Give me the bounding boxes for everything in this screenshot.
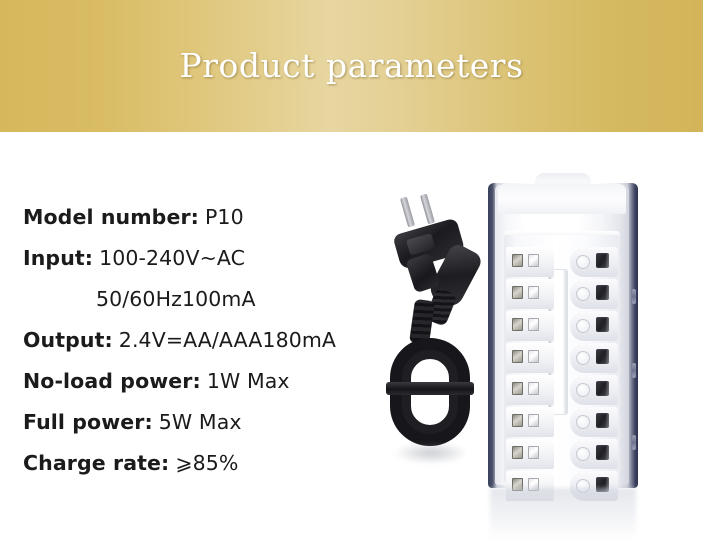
spring-contact-icon: [576, 287, 590, 301]
battery-slot: [570, 375, 618, 405]
battery-slot: [570, 247, 618, 277]
terminal-icon: [596, 445, 609, 460]
spring-contact-icon: [576, 255, 590, 269]
spec-label: Output:: [23, 328, 113, 352]
charger-side-notch: [632, 289, 636, 304]
terminal-icon: [596, 285, 609, 300]
spec-value: 5W Max: [159, 410, 242, 434]
cable-tie-strap: [386, 382, 474, 395]
plug-prong-icon: [400, 197, 415, 228]
charger-side-notch: [632, 435, 636, 450]
slot-contact-icon: [528, 446, 539, 459]
battery-slot: [570, 439, 618, 469]
slot-contact-icon: [528, 318, 539, 331]
spring-contact-icon: [576, 351, 590, 365]
plug-prong-icon: [420, 194, 435, 225]
spec-value: 1W Max: [207, 369, 290, 393]
power-cord-image: [378, 150, 528, 490]
terminal-icon: [596, 317, 609, 332]
battery-slot: [570, 311, 618, 341]
spec-label: No-load power:: [23, 369, 201, 393]
spec-label: Full power:: [23, 410, 153, 434]
terminal-icon: [596, 413, 609, 428]
spec-row-continuation: 50/60Hz100mA: [23, 278, 403, 319]
spec-value: ⩾85%: [175, 451, 238, 475]
spec-value: 100-240V~AC: [99, 246, 245, 270]
spring-contact-icon: [576, 415, 590, 429]
spec-value: 50/60Hz100mA: [96, 287, 256, 311]
spec-label: Charge rate:: [23, 451, 169, 475]
page-title: Product parameters: [179, 49, 523, 82]
slot-contact-icon: [528, 414, 539, 427]
header-banner: Product parameters: [0, 0, 703, 132]
product-photo: [378, 150, 703, 551]
spec-row: Charge rate: ⩾85%: [23, 442, 403, 483]
product-parameters-list: Model number: P10 Input: 100-240V~AC 50/…: [23, 196, 403, 483]
spec-value: 2.4V=AA/AAA180mA: [119, 328, 336, 352]
slot-contact-icon: [528, 286, 539, 299]
slot-contact-icon: [528, 254, 539, 267]
spring-contact-icon: [576, 383, 590, 397]
spec-label: Model number:: [23, 205, 199, 229]
slot-contact-icon: [528, 350, 539, 363]
charger-reflection: [490, 488, 636, 550]
spec-value: P10: [205, 205, 244, 229]
slot-contact-icon: [528, 382, 539, 395]
plug-face-detail: [406, 233, 435, 256]
terminal-icon: [596, 253, 609, 268]
battery-slot-column-right: [570, 247, 618, 503]
spec-row: Model number: P10: [23, 196, 403, 237]
spring-contact-icon: [576, 319, 590, 333]
terminal-icon: [596, 349, 609, 364]
spec-row: No-load power: 1W Max: [23, 360, 403, 401]
spec-row: Input: 100-240V~AC: [23, 237, 403, 278]
spec-label: Input:: [23, 246, 93, 270]
battery-slot: [570, 407, 618, 437]
spec-row: Full power: 5W Max: [23, 401, 403, 442]
charger-side-notch: [632, 363, 636, 378]
spec-row: Output: 2.4V=AA/AAA180mA: [23, 319, 403, 360]
cable-shadow: [394, 442, 468, 464]
terminal-icon: [596, 381, 609, 396]
battery-slot: [570, 279, 618, 309]
spring-contact-icon: [576, 447, 590, 461]
battery-slot: [570, 343, 618, 373]
